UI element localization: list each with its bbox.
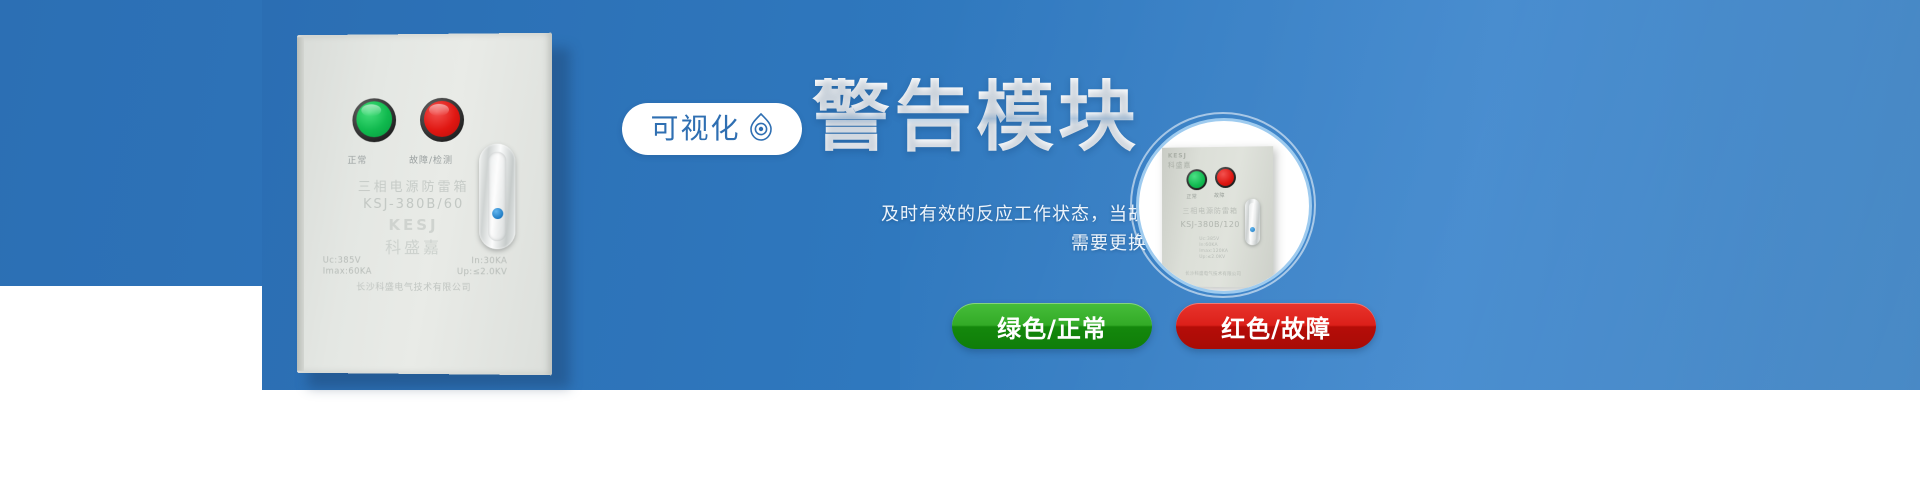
handle-slot [488, 152, 506, 241]
door-lock-handle-icon [479, 144, 515, 250]
inset-green-indicator-lamp-icon [1186, 169, 1207, 190]
inset-lamp-dome [1188, 171, 1205, 188]
inset-handle-slot [1249, 203, 1256, 241]
inset-spec-up: Up:≤2.0KV [1199, 255, 1228, 261]
manufacturer-name: 长沙科盛电气技术有限公司 [297, 279, 531, 293]
spec-in: In:30KA [471, 256, 507, 267]
inset-product-photo: KESJ 科盛嘉 正常 故障 三相电源防雷箱 KSJ-380B/120 Uc:3… [1136, 118, 1312, 294]
status-badge-group: 绿色/正常 红色/故障 [952, 303, 1376, 349]
location-pin-icon [748, 112, 774, 146]
normal-lamp-label: 正常 [347, 153, 367, 166]
product-spec-block: Uc:385V In:30KA Imax:60KA Up:≤2.0KV [323, 256, 508, 279]
status-badge-normal: 绿色/正常 [952, 303, 1152, 349]
inset-handle-keyhole [1250, 227, 1255, 232]
banner-stage: 正常 故障/检测 三相电源防雷箱 KSJ-380B/60 KESJ 科盛嘉 Uc… [0, 0, 1920, 500]
surge-protection-box: 正常 故障/检测 三相电源防雷箱 KSJ-380B/60 KESJ 科盛嘉 Uc… [297, 33, 552, 376]
spec-imax: Imax:60KA [323, 267, 372, 278]
red-indicator-lamp-icon [420, 98, 464, 142]
pill-label: 可视化 [650, 115, 740, 143]
inset-lamp-dome [1217, 169, 1234, 186]
inset-spec-block: Uc:385V In:60KA Imax:120KA Up:≤2.0KV [1199, 237, 1228, 261]
inset-fault-lamp-label: 故障 [1214, 192, 1225, 199]
green-indicator-lamp-icon [352, 98, 396, 142]
lamp-gloss [429, 104, 449, 116]
lamp-gloss [361, 104, 381, 116]
inset-brand-logo-en: KESJ [1168, 152, 1187, 159]
status-badge-fault: 红色/故障 [1176, 303, 1376, 349]
inset-surge-protection-box: KESJ 科盛嘉 正常 故障 三相电源防雷箱 KSJ-380B/120 Uc:3… [1162, 146, 1273, 288]
inset-brand-logo-cn: 科盛嘉 [1168, 160, 1191, 170]
background-white-bottom [0, 390, 1920, 500]
handle-keyhole [492, 208, 503, 219]
page-title: 警告模块 [812, 78, 1140, 156]
spec-uc: Uc:385V [323, 256, 361, 267]
inset-normal-lamp-label: 正常 [1186, 193, 1197, 200]
inset-red-indicator-lamp-icon [1215, 167, 1236, 188]
visualization-pill: 可视化 [622, 103, 802, 155]
product-photo: 正常 故障/检测 三相电源防雷箱 KSJ-380B/60 KESJ 科盛嘉 Uc… [296, 34, 558, 374]
inset-door-lock-handle-icon [1245, 199, 1260, 245]
spec-up: Up:≤2.0KV [457, 267, 507, 278]
inset-manufacturer-name: 长沙科盛电气技术有限公司 [1162, 270, 1265, 277]
fault-lamp-label: 故障/检测 [409, 153, 453, 166]
